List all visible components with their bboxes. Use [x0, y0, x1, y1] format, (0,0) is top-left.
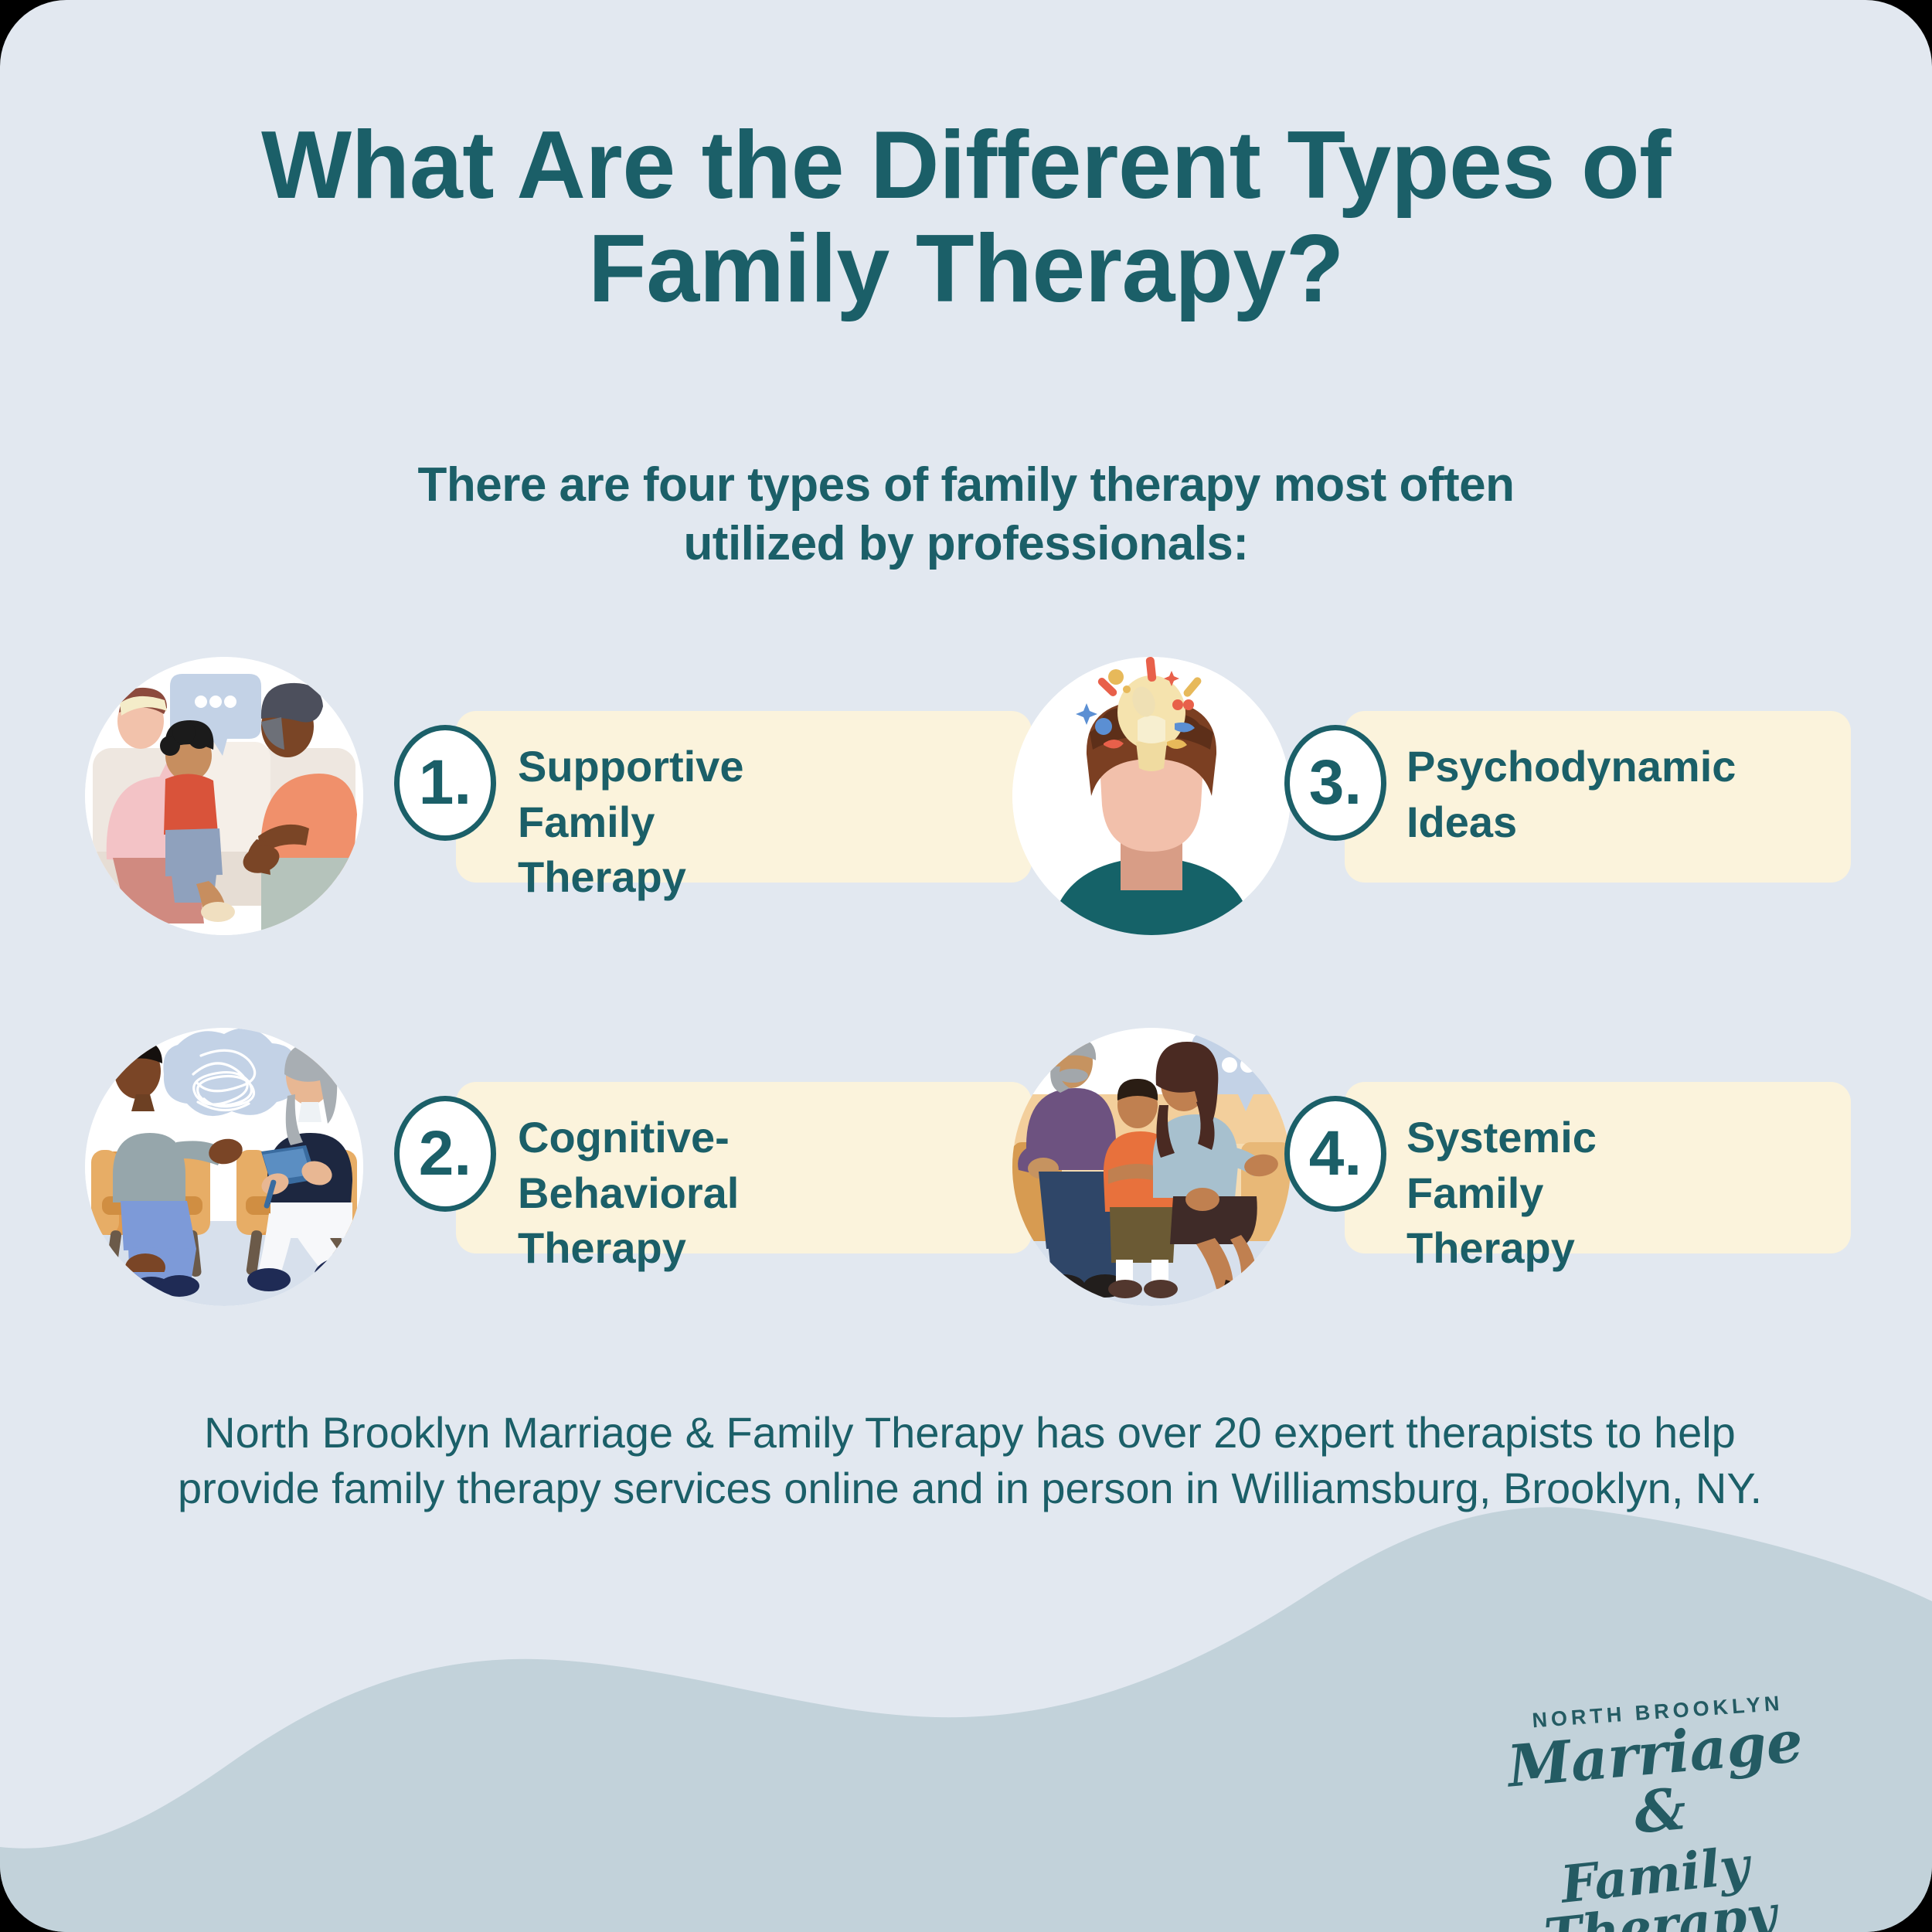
page-title: What Are the Different Types of Family T… — [0, 114, 1932, 321]
item-number-badge-3: 3. — [1284, 725, 1386, 841]
footnote-line-2: provide family therapy services online a… — [147, 1461, 1793, 1516]
item-label-2: Cognitive-Behavioral Therapy — [518, 1110, 739, 1276]
brand-logo[interactable]: NORTH BROOKLYN Marriage & Family Therapy — [1492, 1700, 1824, 1917]
infographic-canvas: What Are the Different Types of Family T… — [0, 0, 1932, 1932]
page-subtitle-line-2: utilized by professionals: — [0, 515, 1932, 573]
item-number-badge-2: 2. — [394, 1096, 496, 1212]
item-label-1: Supportive Family Therapy — [518, 739, 743, 905]
footnote-text: North Brooklyn Marriage & Family Therapy… — [147, 1405, 1793, 1515]
page-subtitle: There are four types of family therapy m… — [0, 456, 1932, 573]
footnote-line-1: North Brooklyn Marriage & Family Therapy… — [147, 1405, 1793, 1461]
family-on-sofa-illustration — [1012, 1028, 1291, 1306]
item-label-4: Systemic Family Therapy — [1406, 1110, 1597, 1276]
therapy-session-armchairs-illustration — [85, 1028, 363, 1306]
logo-script-line-1: Marriage & — [1487, 1712, 1828, 1855]
page-subtitle-line-1: There are four types of family therapy m… — [0, 456, 1932, 515]
page-title-line-2: Family Therapy? — [0, 218, 1932, 321]
item-label-3: Psychodynamic Ideas — [1406, 739, 1736, 849]
page-title-line-1: What Are the Different Types of — [0, 114, 1932, 218]
item-number-badge-1: 1. — [394, 725, 496, 841]
head-with-lightbulb-illustration — [1012, 657, 1291, 935]
family-on-couch-illustration — [85, 657, 363, 935]
item-number-badge-4: 4. — [1284, 1096, 1386, 1212]
